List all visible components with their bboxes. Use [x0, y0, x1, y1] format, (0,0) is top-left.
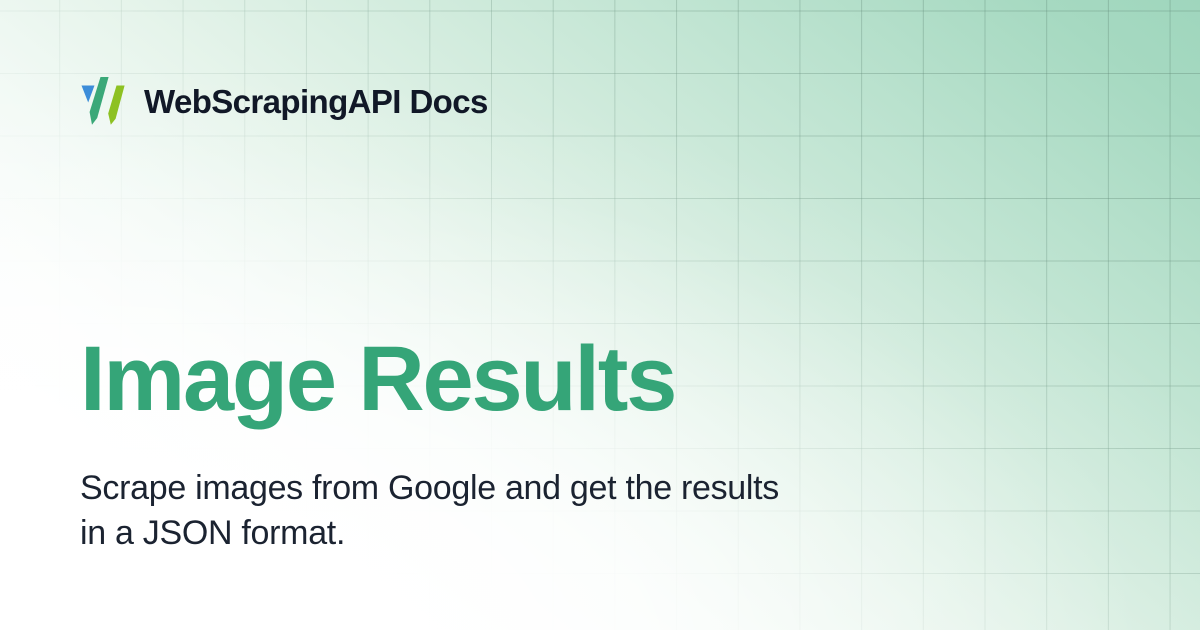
webscrapingapi-logo-icon	[80, 76, 128, 126]
og-card: WebScrapingAPI Docs Image Results Scrape…	[0, 0, 1200, 630]
brand-title: WebScrapingAPI Docs	[144, 85, 488, 118]
page-subtitle: Scrape images from Google and get the re…	[80, 466, 780, 556]
card-content: WebScrapingAPI Docs Image Results Scrape…	[0, 0, 1200, 630]
brand-lockup: WebScrapingAPI Docs	[80, 76, 488, 126]
page-title: Image Results	[80, 333, 675, 425]
